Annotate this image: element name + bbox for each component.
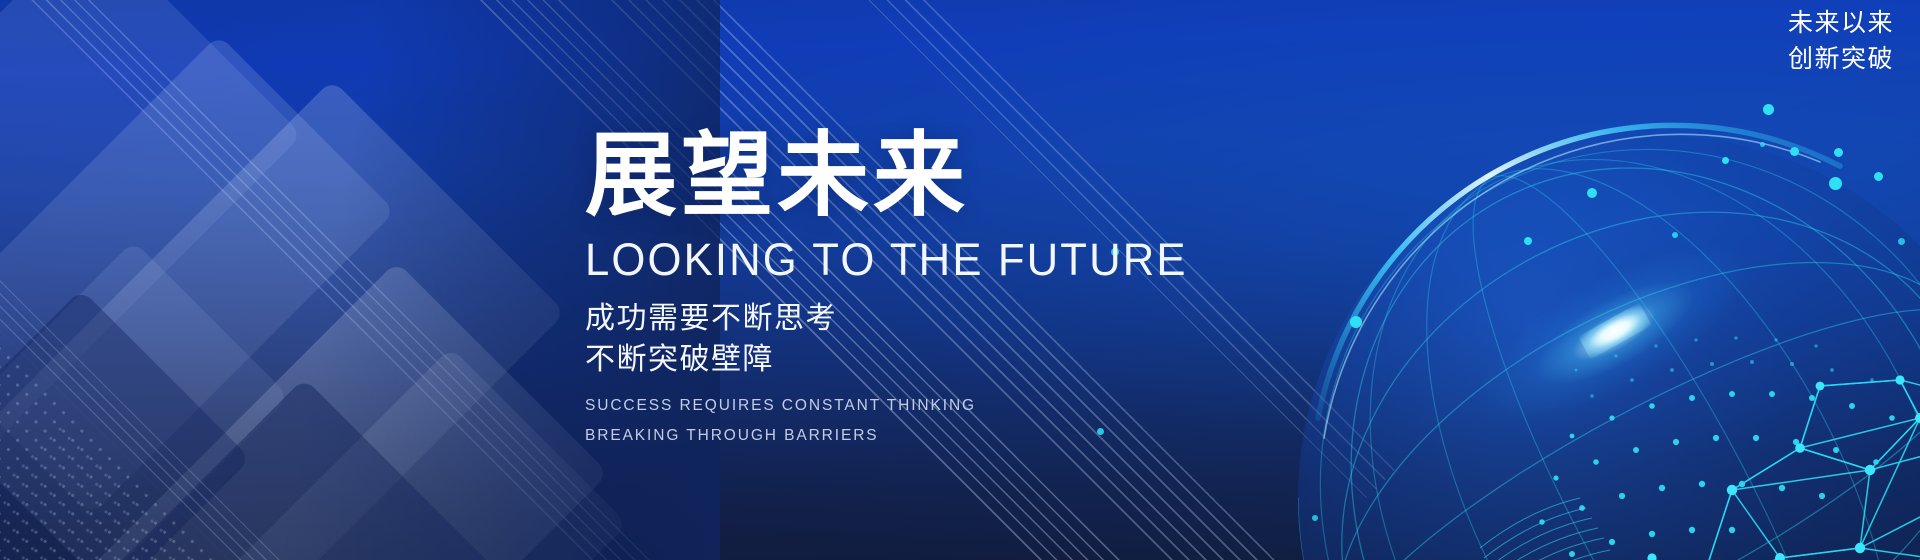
globe-sphere-body [1298,136,1920,560]
particle-dot [1760,142,1765,147]
particle-dot [1672,232,1678,238]
globe-limb-stripes [1480,498,1610,560]
particle-dot [1524,237,1532,245]
diagonal-plate-6 [182,347,627,560]
particle-dot [1790,147,1799,156]
subtitle-cn-line-2: 不断突破壁障 [585,339,1345,380]
wireframe-globe [1280,118,1920,560]
subtitle-cn-block: 成功需要不断思考 不断突破壁障 [585,298,1345,381]
globe-dot-field [1517,336,1895,560]
halftone-dot-grid [0,330,223,560]
page-title-cn: 展望未来 [585,128,1345,225]
diagonal-plate-1 [0,0,302,467]
headline-block: 展望未来 LOOKING TO THE FUTURE 成功需要不断思考 不断突破… [585,128,1345,451]
globe-longitude-lines [1280,118,1920,560]
diagonal-plate-5 [71,261,608,560]
particle-dot [1834,148,1843,157]
diagonal-plate-3 [0,79,566,560]
particle-dot [1829,177,1842,190]
particle-dot [1587,188,1597,198]
particle-dot [1722,157,1729,164]
page-title-en: LOOKING TO THE FUTURE [585,235,1322,285]
particle-dot [1312,515,1318,521]
globe-network-mesh [1580,380,1920,560]
particle-dot [1350,316,1362,328]
limb-glow-core [1578,303,1652,360]
diagonal-plate-4 [0,241,289,560]
diagonal-plate-dark-1 [0,289,251,560]
promotional-banner: 展望未来 LOOKING TO THE FUTURE 成功需要不断思考 不断突破… [0,0,1920,560]
subtitle-en-line-1: SUCCESS REQUIRES CONSTANT THINKING [585,391,1345,421]
particle-dot [1898,238,1905,245]
particle-dot [1874,172,1883,181]
diagonal-plate-dark-2 [78,378,502,560]
diagonal-plate-2 [0,35,395,516]
globe-latitude-lines [1280,118,1920,560]
subtitle-en-line-2: BREAKING THROUGH BARRIERS [585,421,1345,451]
globe-rim-light-thin [1324,134,1820,438]
globe-contents [1280,118,1920,560]
subtitle-cn-line-1: 成功需要不断思考 [585,298,1345,339]
globe-rim-light [1318,125,1840,418]
globe-network-nodes [1576,375,1920,560]
particle-dot [1763,104,1774,115]
corner-tagline-line-2: 创新突破 [1788,42,1894,78]
globe-svg [1280,118,1920,560]
corner-tagline-line-1: 未来以来 [1788,6,1894,42]
corner-tagline: 未来以来 创新突破 [1788,6,1894,77]
limb-glow-flare [1456,212,1772,454]
halftone-dot-grid-2 [0,420,244,560]
subtitle-en-block: SUCCESS REQUIRES CONSTANT THINKING BREAK… [585,391,1345,451]
